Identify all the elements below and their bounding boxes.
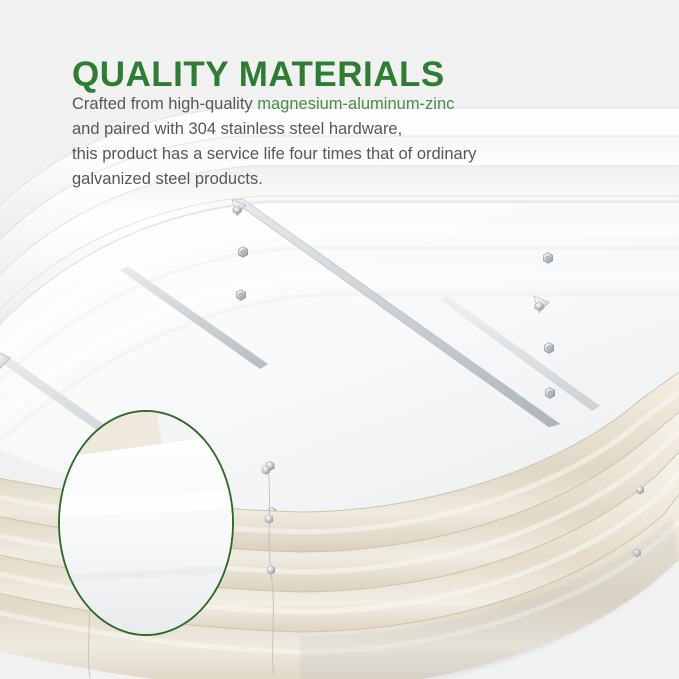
description-line-3: this product has a service life four tim… xyxy=(72,142,632,167)
description-line-4: galvanized steel products. xyxy=(72,167,632,192)
hex-bolt xyxy=(543,253,552,264)
hex-bolt xyxy=(267,566,275,575)
description-line-2: and paired with 304 stainless steel hard… xyxy=(72,117,632,142)
description-block: Crafted from high-quality magnesium-alum… xyxy=(72,92,632,192)
hex-bolt xyxy=(238,247,247,258)
page-title: QUALITY MATERIALS xyxy=(72,55,445,95)
hex-bolt xyxy=(636,486,643,494)
hex-bolt xyxy=(544,343,553,354)
product-detail-image: QUALITY MATERIALS Crafted from high-qual… xyxy=(0,0,679,679)
hex-bolt xyxy=(265,515,273,524)
description-line-1: Crafted from high-quality magnesium-alum… xyxy=(72,92,632,117)
magnified-detail-content xyxy=(58,410,234,636)
material-highlight: magnesium-aluminum-zinc xyxy=(257,95,454,113)
hex-bolt xyxy=(545,388,554,399)
hex-bolt xyxy=(236,290,245,301)
magnified-detail-circle xyxy=(58,410,234,636)
hex-bolt xyxy=(262,466,270,475)
magnified-detail-svg xyxy=(58,410,234,636)
description-line-1-plain: Crafted from high-quality xyxy=(72,95,257,113)
